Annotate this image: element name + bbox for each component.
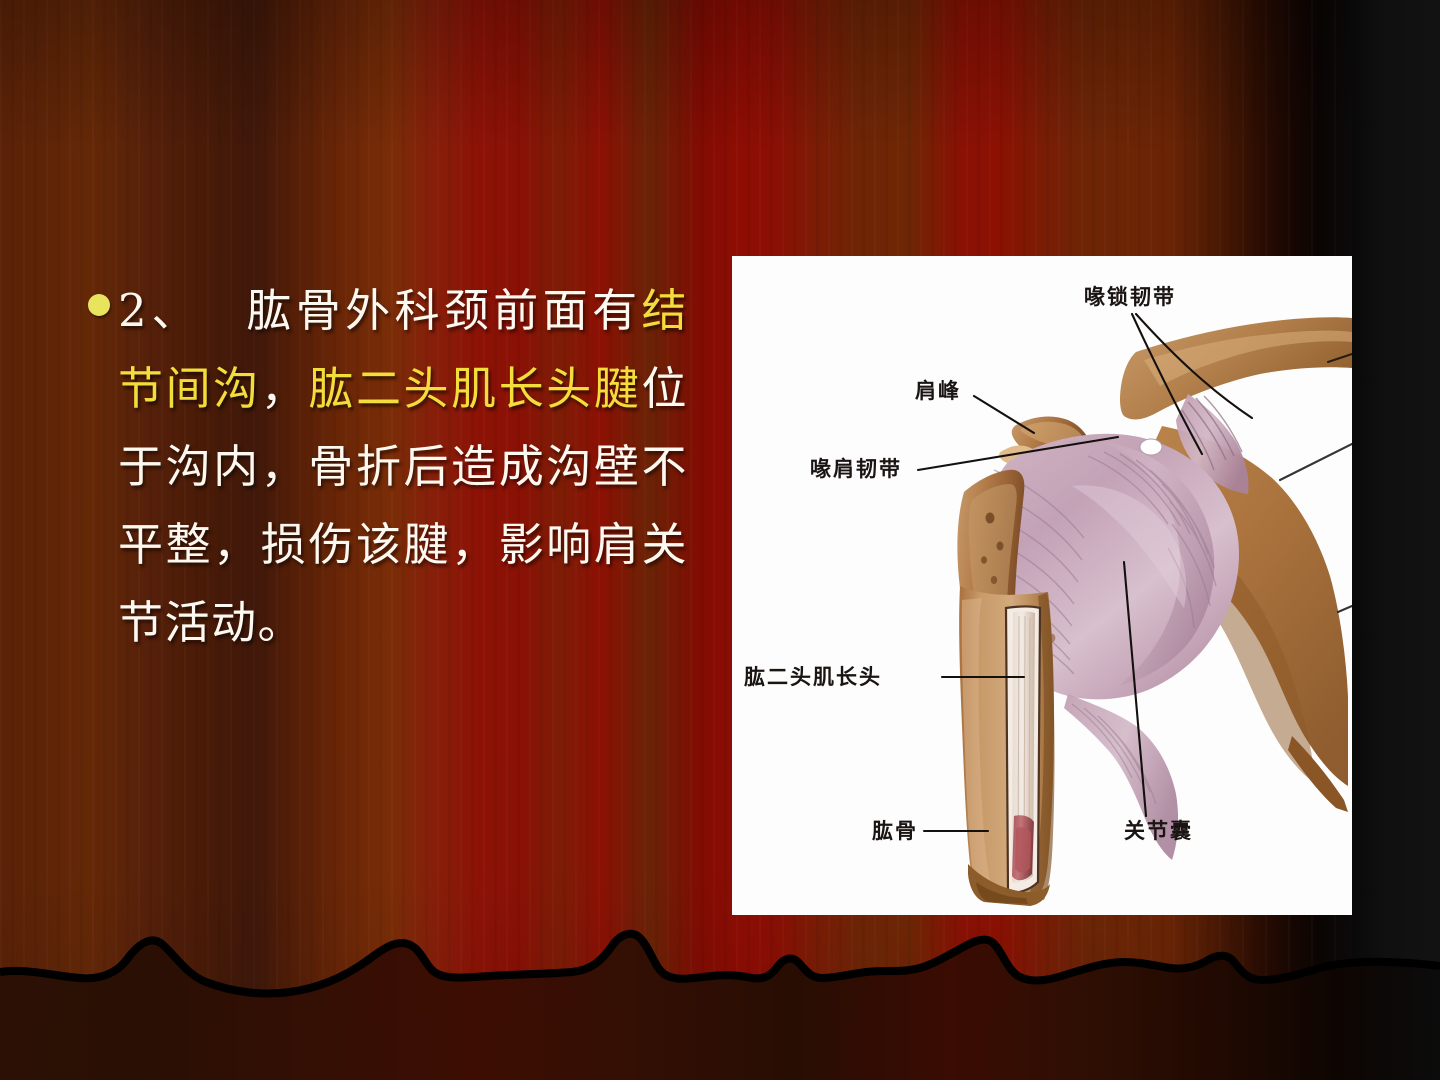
bullet-number: 2、 — [118, 284, 201, 337]
text-segment-2: ， — [261, 362, 309, 415]
anatomy-illustration: 喙锁韧带 肩峰 喙肩韧带 肱二头肌长头 肱骨 关节囊 — [732, 256, 1352, 915]
slide-canvas: 2、肱骨外科颈前面有结节间沟，肱二头肌长头腱位于沟内，骨折后造成沟壁不平整，损伤… — [0, 0, 1440, 1080]
bullet-paragraph: 2、肱骨外科颈前面有结节间沟，肱二头肌长头腱位于沟内，骨折后造成沟壁不平整，损伤… — [118, 272, 688, 662]
figure-label-coracoclavicular-ligament: 喙锁韧带 — [1084, 284, 1176, 309]
bullet-row: 2、肱骨外科颈前面有结节间沟，肱二头肌长头腱位于沟内，骨折后造成沟壁不平整，损伤… — [88, 272, 688, 662]
figure-label-articular-capsule: 关节囊 — [1124, 818, 1193, 843]
figure-label-long-head-of-biceps: 肱二头肌长头 — [744, 664, 882, 689]
figure-label-humerus: 肱骨 — [872, 818, 918, 843]
text-segment-3-highlight: 肱二头肌长头腱 — [308, 362, 641, 415]
figure-label-coracoacromial-ligament: 喙肩韧带 — [810, 456, 902, 481]
text-segment-0: 肱骨外科颈前面有 — [243, 284, 641, 337]
bullet-text-block: 2、肱骨外科颈前面有结节间沟，肱二头肌长头腱位于沟内，骨折后造成沟壁不平整，损伤… — [88, 272, 688, 662]
bullet-dot-icon — [88, 294, 110, 316]
figure-label-acromion: 肩峰 — [915, 378, 961, 403]
anatomy-figure: 喙锁韧带 肩峰 喙肩韧带 肱二头肌长头 肱骨 关节囊 — [732, 256, 1352, 915]
